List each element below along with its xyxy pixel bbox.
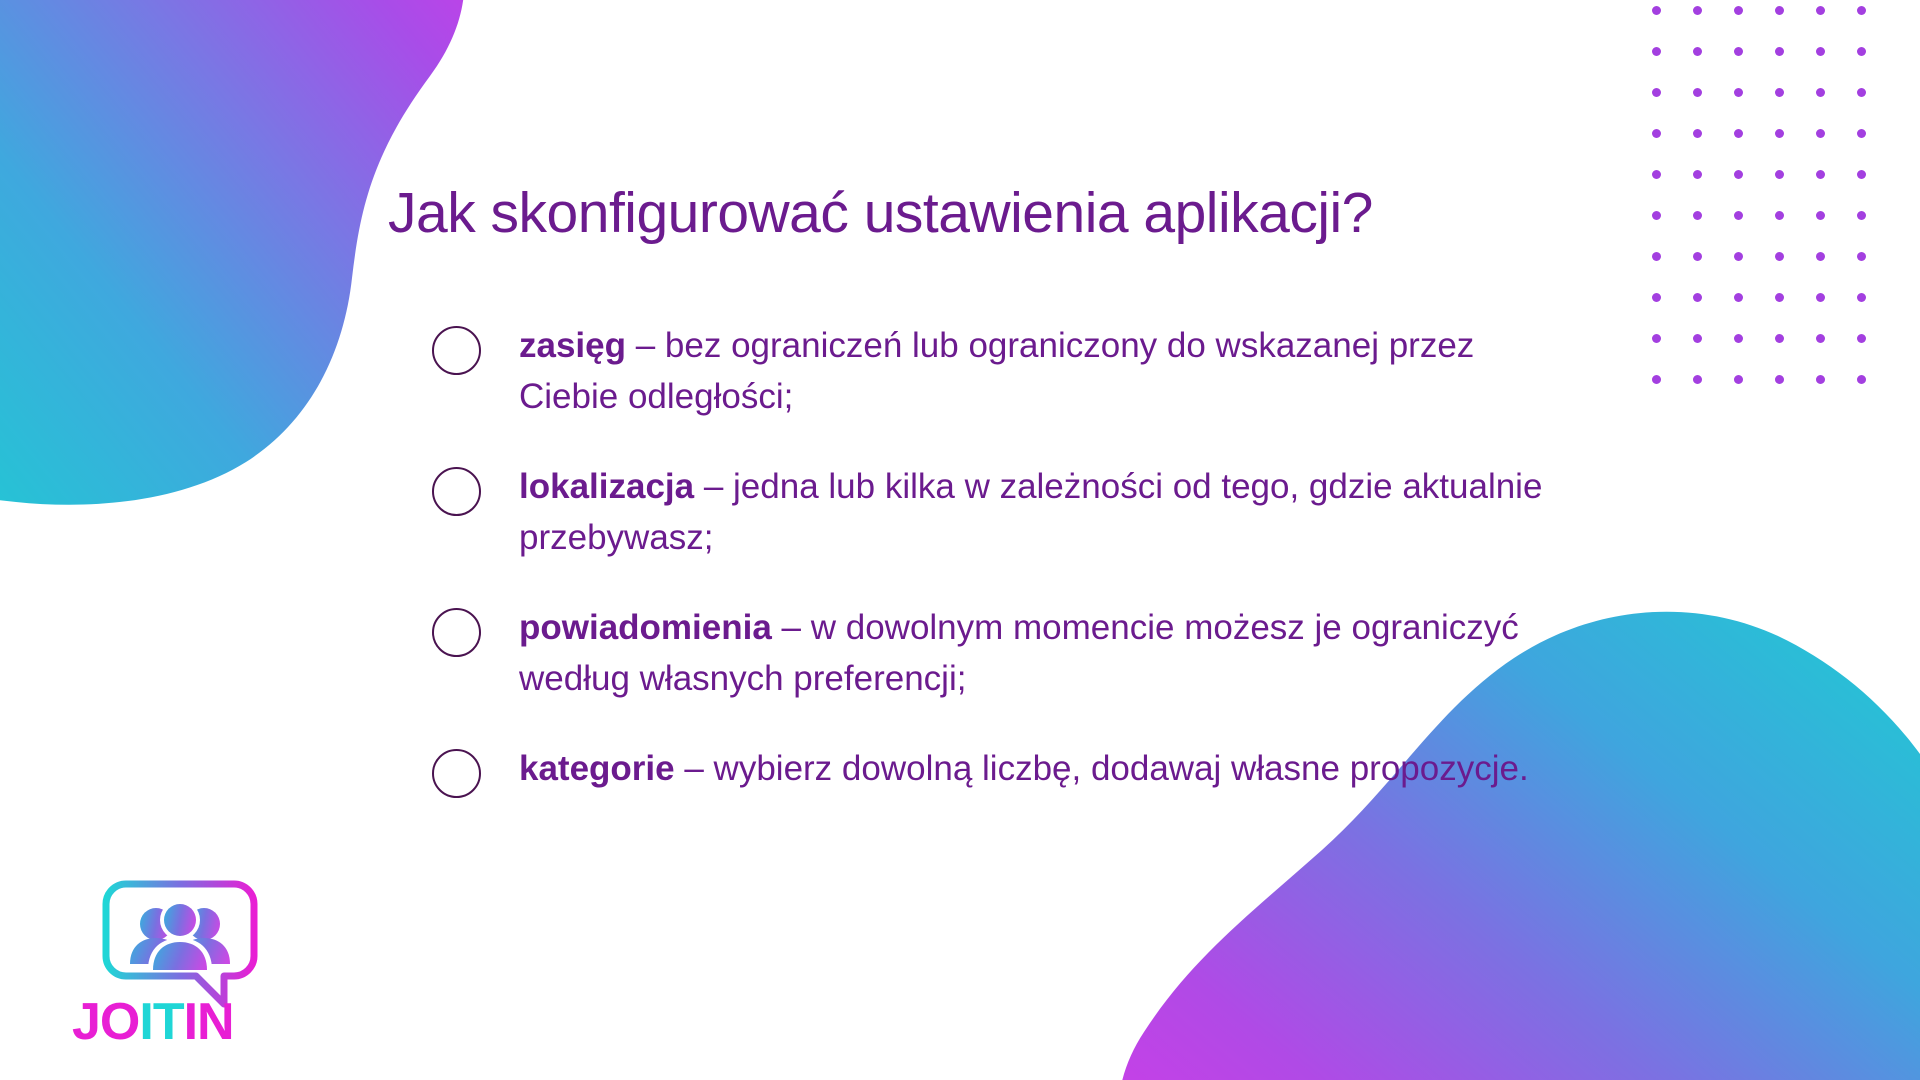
grid-dot	[1857, 375, 1866, 384]
list-item-text: kategorie – wybierz dowolną liczbę, doda…	[519, 743, 1562, 794]
list-item-separator: –	[694, 467, 733, 506]
grid-dot	[1857, 252, 1866, 261]
grid-dot	[1734, 47, 1743, 56]
grid-dot	[1734, 293, 1743, 302]
logo-wordmark-part2: IT	[139, 993, 183, 1051]
grid-dot	[1775, 47, 1784, 56]
logo-wordmark: JOITIN	[72, 996, 234, 1048]
grid-dot	[1734, 129, 1743, 138]
logo-wordmark-part1: JO	[72, 993, 139, 1051]
grid-dot	[1775, 252, 1784, 261]
list-item-text: lokalizacja – jedna lub kilka w zależnoś…	[519, 461, 1562, 564]
grid-dot	[1693, 88, 1702, 97]
grid-dot	[1652, 88, 1661, 97]
grid-dot	[1652, 375, 1661, 384]
slide-canvas: Jak skonfigurować ustawienia aplikacji? …	[0, 0, 1920, 1080]
grid-dot	[1775, 6, 1784, 15]
page-title: Jak skonfigurować ustawienia aplikacji?	[388, 180, 1373, 246]
grid-dot	[1816, 252, 1825, 261]
circle-outline-icon	[432, 608, 481, 657]
grid-dot	[1775, 375, 1784, 384]
grid-dot	[1857, 47, 1866, 56]
circle-outline-icon	[432, 467, 481, 516]
list-item-separator: –	[772, 608, 811, 647]
grid-dot	[1734, 211, 1743, 220]
grid-dot	[1816, 170, 1825, 179]
grid-dot	[1857, 170, 1866, 179]
list-item-term: lokalizacja	[519, 467, 694, 506]
list-item-text: zasięg – bez ograniczeń lub ograniczony …	[519, 320, 1562, 423]
grid-dot	[1652, 47, 1661, 56]
grid-dot	[1652, 293, 1661, 302]
grid-dot	[1816, 293, 1825, 302]
grid-dot	[1775, 170, 1784, 179]
grid-dot	[1816, 334, 1825, 343]
grid-dot	[1857, 293, 1866, 302]
grid-dot	[1693, 170, 1702, 179]
grid-dot	[1775, 211, 1784, 220]
grid-dot	[1775, 129, 1784, 138]
circle-outline-icon	[432, 749, 481, 798]
list-item-term: powiadomienia	[519, 608, 772, 647]
grid-dot	[1857, 129, 1866, 138]
list-item-term: kategorie	[519, 749, 675, 788]
grid-dot	[1652, 252, 1661, 261]
list-item: zasięg – bez ograniczeń lub ograniczony …	[432, 320, 1562, 423]
list-item-separator: –	[675, 749, 714, 788]
list-item-separator: –	[626, 326, 665, 365]
bullet-list: zasięg – bez ograniczeń lub ograniczony …	[432, 320, 1562, 798]
grid-dot	[1693, 211, 1702, 220]
grid-dot	[1652, 211, 1661, 220]
grid-dot	[1734, 88, 1743, 97]
grid-dot	[1816, 375, 1825, 384]
grid-dot	[1775, 293, 1784, 302]
grid-dot	[1816, 47, 1825, 56]
grid-dot	[1816, 211, 1825, 220]
list-item-text: powiadomienia – w dowolnym momencie może…	[519, 602, 1562, 705]
grid-dot	[1693, 129, 1702, 138]
grid-dot	[1857, 6, 1866, 15]
brand-logo: JOITIN	[72, 878, 280, 1058]
grid-dot	[1734, 6, 1743, 15]
grid-dot	[1693, 375, 1702, 384]
grid-dot	[1734, 375, 1743, 384]
grid-dot	[1693, 293, 1702, 302]
grid-dot	[1775, 88, 1784, 97]
grid-dot	[1734, 170, 1743, 179]
grid-dot	[1652, 334, 1661, 343]
grid-dot	[1693, 252, 1702, 261]
speech-bubble-with-people-icon	[100, 878, 260, 1010]
grid-dot	[1857, 211, 1866, 220]
grid-dot	[1734, 334, 1743, 343]
list-item-term: zasięg	[519, 326, 626, 365]
list-item: powiadomienia – w dowolnym momencie może…	[432, 602, 1562, 705]
logo-wordmark-part3: IN	[184, 993, 234, 1051]
grid-dot	[1816, 129, 1825, 138]
grid-dot	[1652, 170, 1661, 179]
circle-outline-icon	[432, 326, 481, 375]
list-item: lokalizacja – jedna lub kilka w zależnoś…	[432, 461, 1562, 564]
grid-dot	[1693, 334, 1702, 343]
grid-dot	[1693, 6, 1702, 15]
grid-dot	[1775, 334, 1784, 343]
grid-dot	[1734, 252, 1743, 261]
grid-dot	[1816, 6, 1825, 15]
grid-dot	[1652, 129, 1661, 138]
decorative-dot-grid	[1652, 6, 1898, 416]
list-item: kategorie – wybierz dowolną liczbę, doda…	[432, 743, 1562, 798]
grid-dot	[1693, 47, 1702, 56]
grid-dot	[1816, 88, 1825, 97]
grid-dot	[1857, 88, 1866, 97]
grid-dot	[1857, 334, 1866, 343]
grid-dot	[1652, 6, 1661, 15]
list-item-description: wybierz dowolną liczbę, dodawaj własne p…	[714, 749, 1529, 788]
